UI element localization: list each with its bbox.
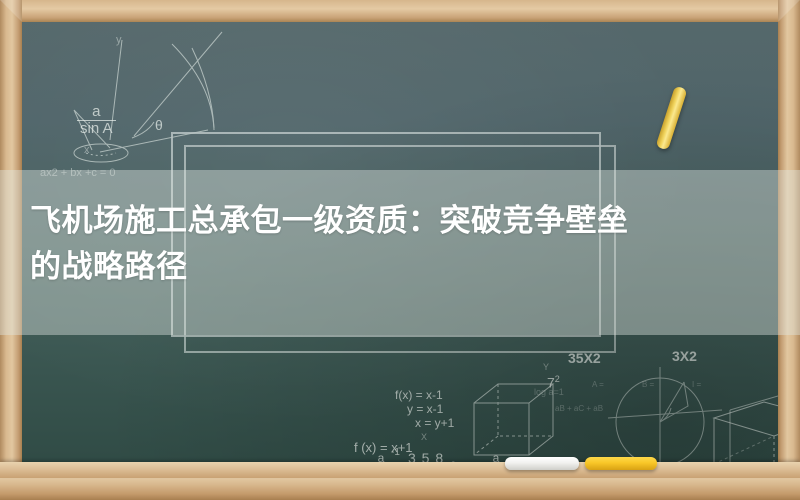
page-title-line-2: 的战略路径 xyxy=(30,244,730,290)
chalk-seven-exponent: 2 xyxy=(555,374,560,384)
chalk-quadratic-equation: ax2 + bx +c = 0 xyxy=(40,167,116,179)
chalk-axis-label-y: y xyxy=(116,34,122,46)
chalk-inverse-exponent: -1 xyxy=(391,447,400,458)
chalk-function-block: f(x) = x-1 y = x-1 x = y+1 xyxy=(395,388,454,430)
frame-corner-top-right xyxy=(778,0,800,22)
chalk-matrix-i: I = xyxy=(692,380,701,389)
chalk-label-35x2: 35X2 xyxy=(568,350,601,366)
chalk-angle-theta: θ xyxy=(155,117,163,133)
chalk-axis-label-x: x xyxy=(84,144,90,156)
page-title-line-1: 飞机场施工总承包一级资质：突破竞争壁垒 xyxy=(30,198,730,244)
chalk-label-3x2: 3X2 xyxy=(672,348,697,364)
fraction-denominator: sin A xyxy=(77,121,116,137)
chalk-inverse-fn-text: f (x) = x+1 xyxy=(354,440,413,455)
frame-left xyxy=(0,0,22,500)
chalk-x-eq: x = y+1 xyxy=(395,416,454,430)
chalk-axis-label-X: X xyxy=(421,432,427,442)
chalk-y-eq: y = x-1 xyxy=(395,402,454,416)
frame-corner-top-left xyxy=(0,0,22,22)
yellow-chalk-stick[interactable] xyxy=(585,457,657,470)
frame-bottom xyxy=(0,476,800,500)
chalk-fx: f(x) = x-1 xyxy=(395,388,454,402)
chalk-set-note: aB + aC + aB xyxy=(555,404,603,413)
chalk-ledge xyxy=(0,462,800,478)
chalk-inverse-function: f (x) = x+1 xyxy=(354,440,413,455)
page-title: 飞机场施工总承包一级资质：突破竞争壁垒 的战略路径 xyxy=(30,198,730,290)
chalk-log-a: log a=1 xyxy=(534,387,564,397)
chalk-matrix-b: B = xyxy=(642,380,654,389)
chalkboard-banner: a sin A ax2 + bx +c = 0 y x θ f(x) = x-1… xyxy=(0,0,800,500)
white-chalk-stick[interactable] xyxy=(505,457,579,470)
chalk-axis-label-Y: Y xyxy=(543,362,549,372)
chalk-fraction-a-sinA: a sin A xyxy=(77,104,116,137)
frame-top xyxy=(0,0,800,22)
frame-right xyxy=(778,0,800,500)
fraction-numerator: a xyxy=(77,104,116,121)
chalk-matrix-a: A = xyxy=(592,380,604,389)
